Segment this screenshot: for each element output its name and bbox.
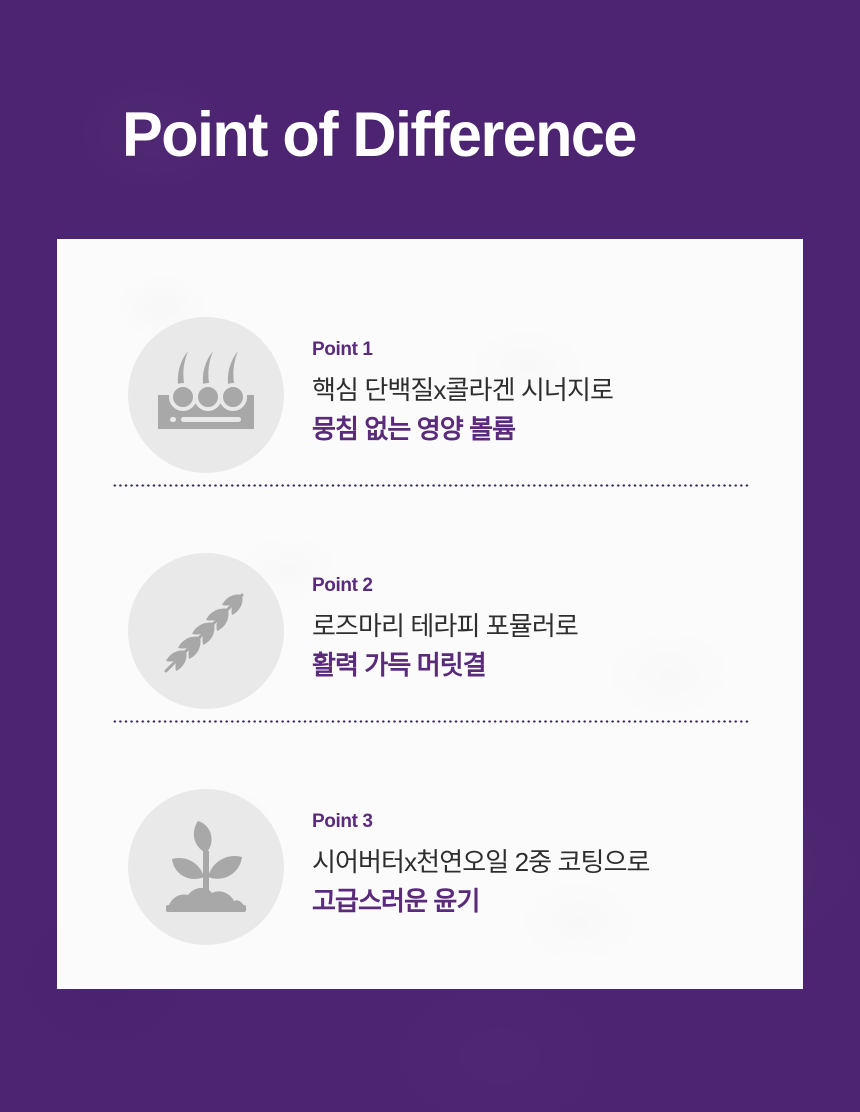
point-description-line: 로즈마리 테라피 포뮬러로	[312, 607, 578, 646]
page-title: Point of Difference	[122, 96, 801, 174]
point-label: Point 3	[312, 809, 650, 835]
hair-follicle-icon	[128, 317, 284, 473]
point-highlight-line: 활력 가득 머릿결	[312, 646, 578, 685]
list-item: Point 2 로즈마리 테라피 포뮬러로 활력 가득 머릿결	[57, 523, 803, 739]
points-card: Point 1 핵심 단백질x콜라겐 시너지로 뭉침 없는 영양 볼륨	[57, 239, 803, 989]
rosemary-sprig-icon	[128, 553, 284, 709]
point-text-block: Point 2 로즈마리 테라피 포뮬러로 활력 가득 머릿결	[312, 573, 578, 689]
point-highlight-line: 고급스러운 윤기	[312, 882, 650, 921]
point-description-line: 핵심 단백질x콜라겐 시너지로	[312, 371, 613, 410]
promo-page-background: Point of Difference	[0, 0, 860, 1112]
divider	[112, 720, 750, 723]
list-item: Point 1 핵심 단백질x콜라겐 시너지로 뭉침 없는 영양 볼륨	[57, 287, 803, 503]
point-text-block: Point 1 핵심 단백질x콜라겐 시너지로 뭉침 없는 영양 볼륨	[312, 337, 613, 453]
list-item: Point 3 시어버터x천연오일 2중 코팅으로 고급스러운 윤기	[57, 759, 803, 975]
point-highlight-line: 뭉침 없는 영양 볼륨	[312, 410, 613, 449]
sprout-icon	[128, 789, 284, 945]
point-text-block: Point 3 시어버터x천연오일 2중 코팅으로 고급스러운 윤기	[312, 809, 650, 925]
point-label: Point 2	[312, 573, 578, 599]
divider	[112, 484, 750, 487]
point-description-line: 시어버터x천연오일 2중 코팅으로	[312, 843, 650, 882]
point-label: Point 1	[312, 337, 613, 363]
points-list: Point 1 핵심 단백질x콜라겐 시너지로 뭉침 없는 영양 볼륨	[57, 239, 803, 989]
